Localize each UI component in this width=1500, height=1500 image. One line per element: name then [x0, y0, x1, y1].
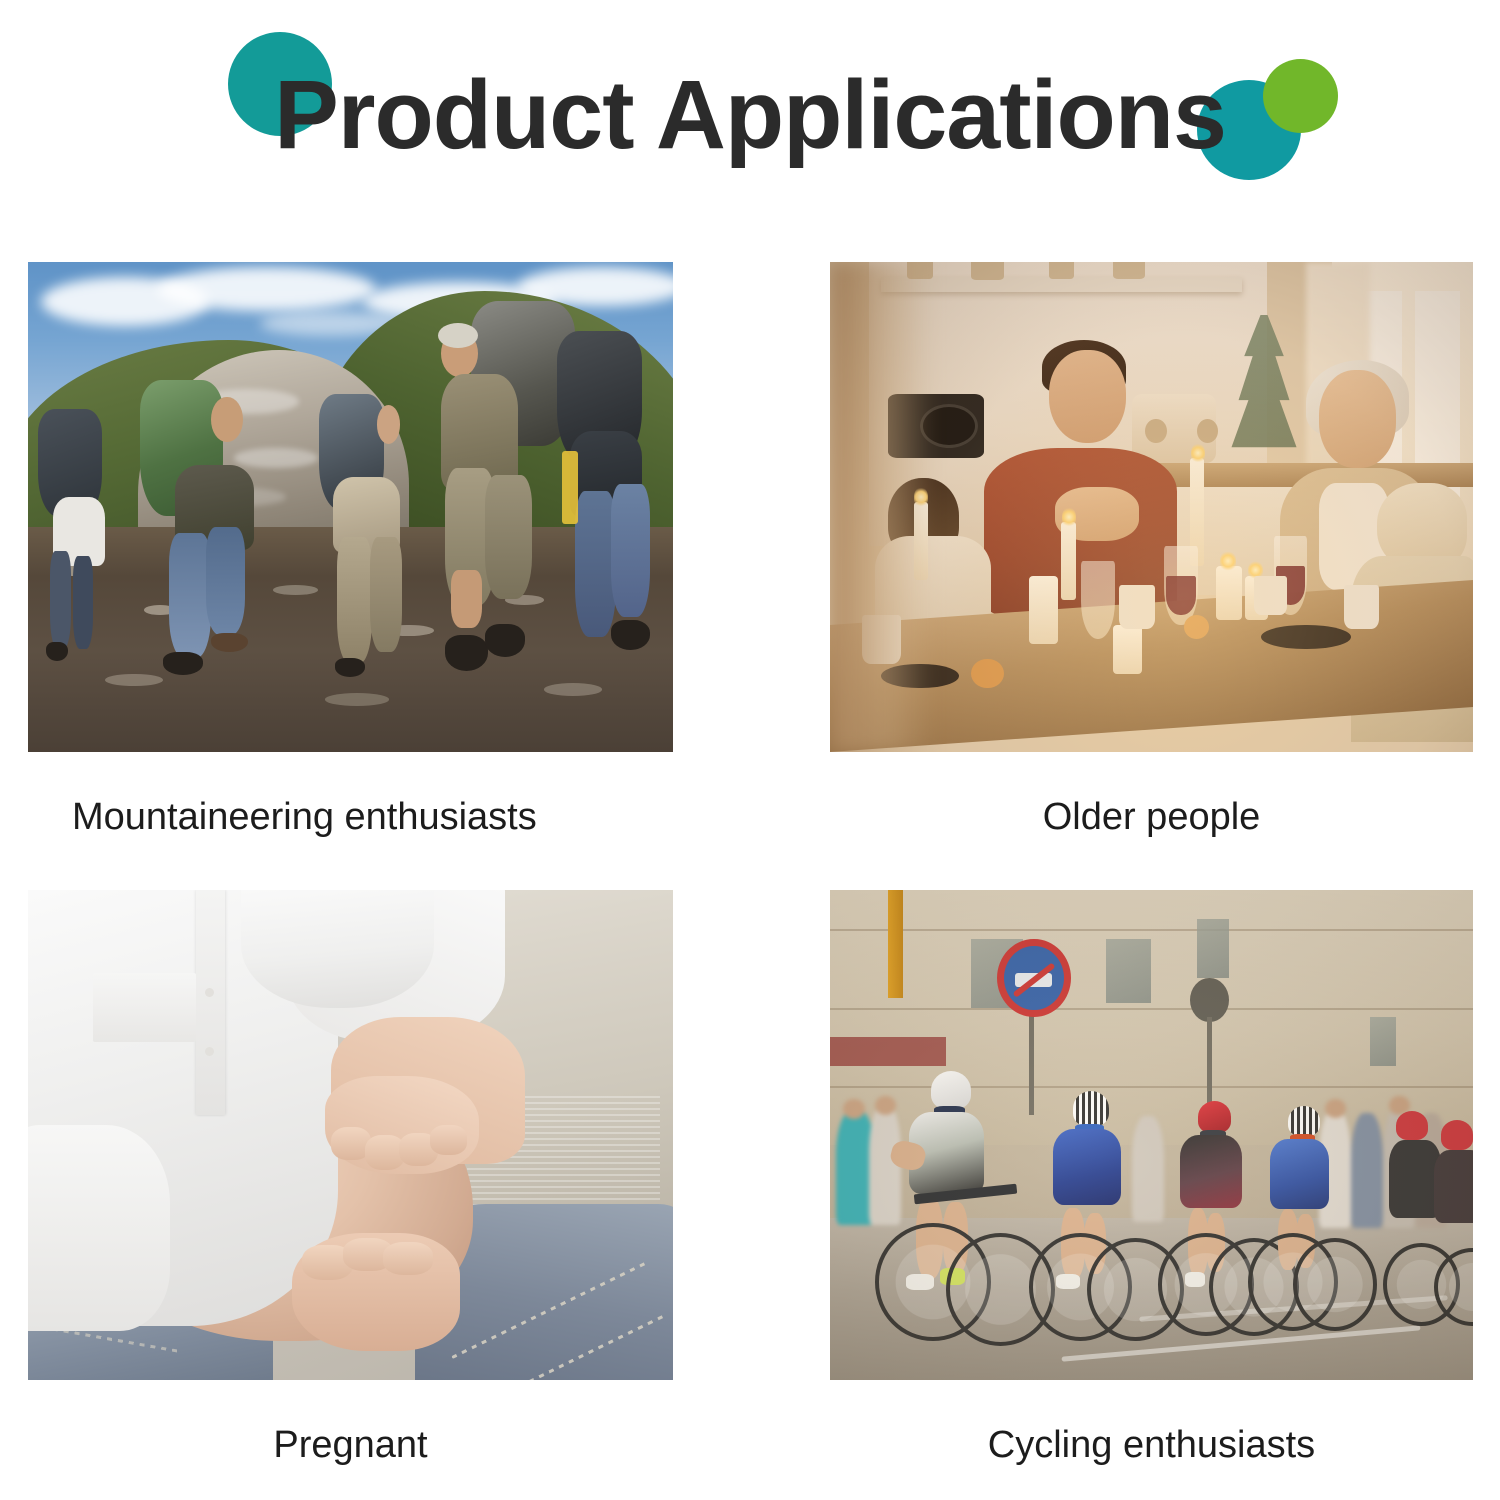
cycling-photo: [830, 890, 1473, 1380]
jeans-leg: [611, 484, 650, 617]
shirt-pocket: [93, 973, 196, 1042]
leg: [73, 556, 93, 649]
boot: [335, 658, 365, 677]
page-title: Product Applications: [0, 60, 1500, 170]
boot: [611, 620, 650, 650]
caption-pregnant: Pregnant: [28, 1422, 673, 1468]
older-people-photo: [830, 262, 1473, 752]
white-tank-top: [241, 890, 435, 1008]
pants-leg: [370, 537, 403, 652]
finger: [383, 1242, 433, 1275]
boot: [485, 624, 525, 657]
jeans-leg: [206, 527, 246, 635]
pregnant-photo: [28, 890, 673, 1380]
applications-grid: Mountaineering enthusiasts: [0, 230, 1500, 1500]
application-card-older-people: Older people: [830, 262, 1473, 840]
caption-older-people: Older people: [830, 794, 1473, 840]
page-header: Product Applications: [0, 0, 1500, 230]
boot: [163, 652, 203, 675]
hand-upper: [325, 1076, 480, 1174]
head: [211, 397, 242, 442]
application-card-cycling: Cycling enthusiasts: [830, 890, 1473, 1468]
ground-stone: [325, 693, 390, 706]
pants-leg: [337, 537, 372, 663]
calf: [451, 570, 481, 628]
hiker: [34, 409, 118, 654]
shirt-placket: [196, 890, 225, 1115]
leg: [50, 551, 72, 649]
head: [377, 405, 400, 443]
boot: [445, 635, 489, 671]
cloud: [157, 267, 376, 311]
jeans-leg: [575, 491, 616, 638]
finger: [430, 1125, 467, 1154]
hiker: [312, 394, 428, 668]
boot: [211, 633, 248, 653]
warm-light-overlay: [830, 262, 1473, 752]
mountaineering-photo: [28, 262, 673, 752]
sunlight-haze: [830, 890, 1473, 1380]
application-card-mountaineering: Mountaineering enthusiasts: [28, 262, 673, 840]
hiker: [138, 380, 280, 664]
shorts-leg: [485, 475, 532, 598]
shirt-sleeve-left: [28, 1125, 170, 1331]
hiker: [557, 331, 673, 664]
application-card-pregnant: Pregnant: [28, 890, 673, 1468]
hand-lower: [292, 1233, 460, 1351]
gear-strap: [562, 451, 577, 524]
caption-cycling: Cycling enthusiasts: [830, 1422, 1473, 1468]
caption-mountaineering: Mountaineering enthusiasts: [28, 794, 673, 840]
